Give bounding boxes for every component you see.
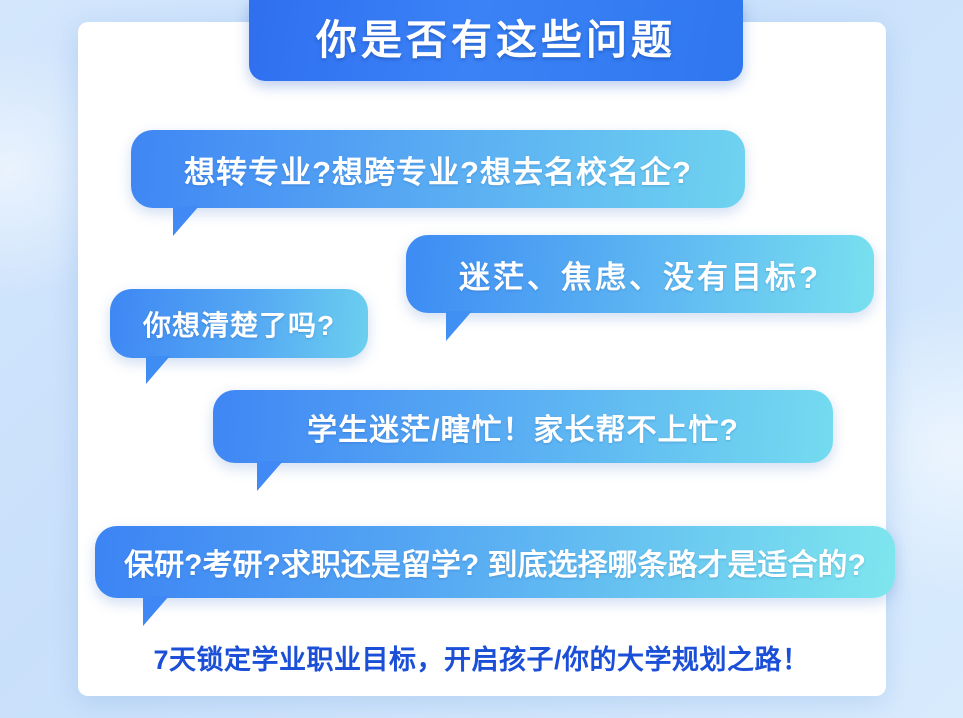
speech-bubble-3-text: 你想清楚了吗?	[143, 304, 335, 344]
speech-bubble-5: 保研?考研?求职还是留学? 到底选择哪条路才是适合的?	[95, 526, 895, 598]
speech-bubble-1-text: 想转专业?想跨专业?想去名校名企?	[184, 147, 692, 192]
speech-bubble-4-text: 学生迷茫/瞎忙！家长帮不上忙?	[307, 405, 739, 449]
bubble-tail-icon	[173, 206, 199, 236]
speech-bubble-5-text: 保研?考研?求职还是留学? 到底选择哪条路才是适合的?	[124, 540, 866, 584]
page-title: 你是否有这些问题	[316, 20, 676, 61]
title-ribbon: 你是否有这些问题	[249, 0, 743, 81]
speech-bubble-2-text: 迷茫、焦虑、没有目标?	[459, 252, 821, 297]
footer-tagline: 7天锁定学业职业目标，开启孩子/你的大学规划之路！	[0, 638, 963, 677]
bubble-tail-icon	[143, 596, 169, 626]
speech-bubble-3: 你想清楚了吗?	[110, 289, 368, 358]
speech-bubble-1: 想转专业?想跨专业?想去名校名企?	[131, 130, 745, 208]
bubble-tail-icon	[446, 311, 472, 341]
poster-canvas: 你是否有这些问题 想转专业?想跨专业?想去名校名企? 迷茫、焦虑、没有目标? 你…	[0, 0, 963, 718]
bubble-tail-icon	[146, 356, 170, 384]
speech-bubble-4: 学生迷茫/瞎忙！家长帮不上忙?	[213, 390, 833, 463]
speech-bubble-2: 迷茫、焦虑、没有目标?	[406, 235, 874, 313]
bubble-tail-icon	[257, 461, 283, 491]
